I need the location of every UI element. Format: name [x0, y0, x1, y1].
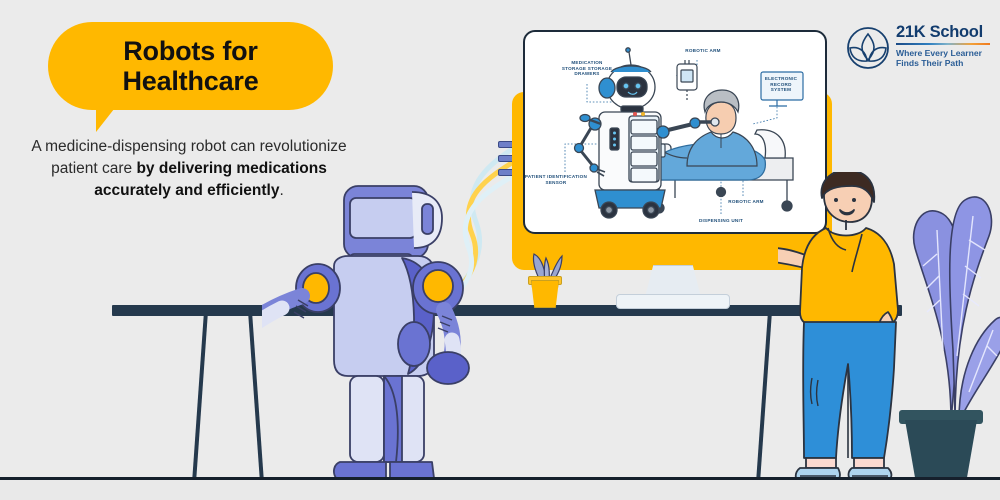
body-paragraph: A medicine-dispensing robot can revoluti… — [14, 136, 364, 202]
diagram-label-robotic-arm-bottom: ROBOTIC ARM — [721, 199, 771, 205]
page-title-line2: Healthcare — [122, 66, 258, 96]
desk-leg — [192, 316, 207, 478]
illustration-canvas: MEDICATION STORAGE STORAGE DRAWERS ROBOT… — [0, 0, 1000, 500]
brand-underline — [896, 43, 990, 46]
body-text-plain-2: . — [279, 182, 283, 199]
headline-bubble-tail — [96, 104, 118, 132]
standing-robot — [262, 168, 482, 488]
page-title-line1: Robots for — [123, 36, 257, 66]
diagram-label-dispensing-unit: DISPENSING UNIT — [691, 218, 751, 224]
diagram-label-robotic-arm-top: ROBOTIC ARM — [673, 48, 733, 54]
diagram-label-patient-identification-sensor: PATIENT IDENTIFICATION SENSOR — [523, 174, 591, 185]
brand-tagline-line1: Where Every Learner — [896, 48, 992, 58]
brand-logo[interactable]: 21K School Where Every Learner Finds The… — [846, 24, 992, 74]
diagram-label-medication-storage-drawers: MEDICATION STORAGE STORAGE DRAWERS — [551, 60, 623, 77]
diagram-label-electronic-record-system: ELECTRONIC RECORD SYSTEM — [761, 76, 801, 93]
desk-plant-pot — [531, 280, 559, 308]
brand-tagline: Where Every Learner Finds Their Path — [896, 48, 992, 69]
brand-tagline-line2: Finds Their Path — [896, 58, 992, 68]
brand-name: 21K School — [896, 24, 992, 41]
brand-logo-text: 21K School Where Every Learner Finds The… — [896, 24, 992, 69]
page-title: Robots for Healthcare — [48, 22, 333, 110]
floor-foreground — [0, 480, 1000, 500]
desk-leg — [756, 316, 771, 478]
monitor-base — [616, 294, 730, 309]
lotus-circle-icon — [846, 26, 890, 70]
standing-person — [778, 172, 918, 482]
headline-bubble: Robots for Healthcare — [48, 22, 333, 110]
